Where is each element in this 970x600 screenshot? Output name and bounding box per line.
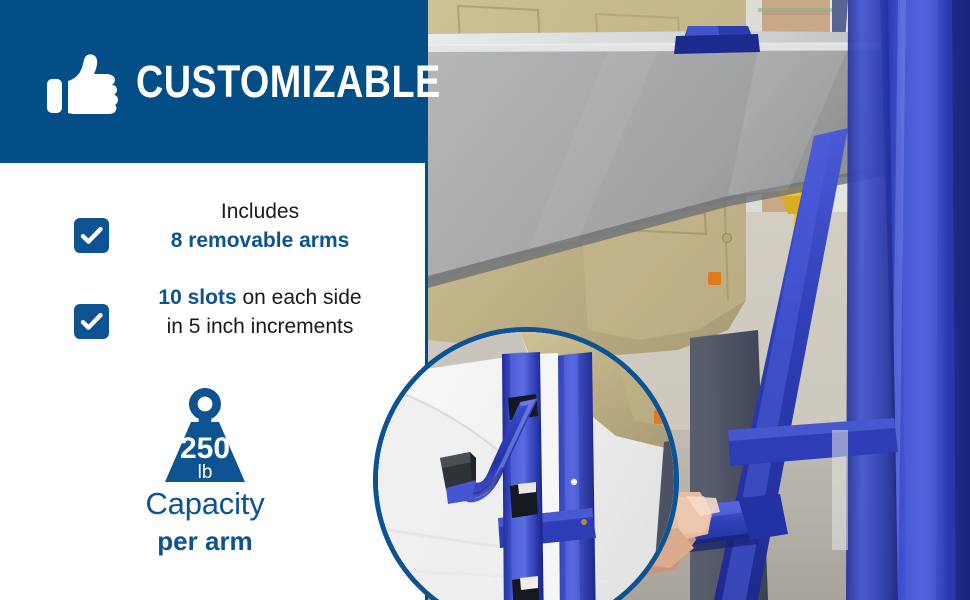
checkbox-checked-icon bbox=[74, 218, 109, 253]
capacity-badge: 250 lb Capacity per arm bbox=[0, 388, 410, 555]
thumbs-up-icon bbox=[46, 53, 118, 117]
page-title: CUSTOMIZABLE bbox=[136, 59, 441, 104]
feature-line-2-highlight: 8 removable arms bbox=[171, 229, 350, 252]
left-content-panel: CUSTOMIZABLE Includes 8 removable arms bbox=[0, 0, 428, 600]
feature-item-text: Includes 8 removable arms bbox=[136, 198, 384, 256]
feature-line-1: Includes bbox=[221, 200, 299, 223]
capacity-unit-text: lb bbox=[198, 462, 213, 482]
feature-line-2: in 5 inch increments bbox=[167, 315, 354, 338]
customizable-feature-infographic: CUSTOMIZABLE Includes 8 removable arms bbox=[0, 0, 970, 600]
feature-item-text: 10 slots on each side in 5 inch incremen… bbox=[136, 284, 384, 342]
weight-icon: 250 lb bbox=[153, 388, 257, 482]
feature-line-1-highlight: 10 slots bbox=[158, 286, 236, 309]
capacity-sublabel: per arm bbox=[157, 527, 252, 556]
feature-line-1-rest: on each side bbox=[237, 286, 362, 309]
header-band: CUSTOMIZABLE bbox=[0, 0, 428, 163]
feature-list: Includes 8 removable arms 10 slots on ea… bbox=[0, 198, 428, 370]
capacity-value-text: 250 bbox=[180, 432, 230, 465]
checkbox-checked-icon bbox=[74, 304, 109, 339]
capacity-label: Capacity bbox=[145, 488, 264, 521]
feature-item-removable-arms: Includes 8 removable arms bbox=[0, 198, 428, 256]
feature-item-slots: 10 slots on each side in 5 inch incremen… bbox=[0, 284, 428, 342]
